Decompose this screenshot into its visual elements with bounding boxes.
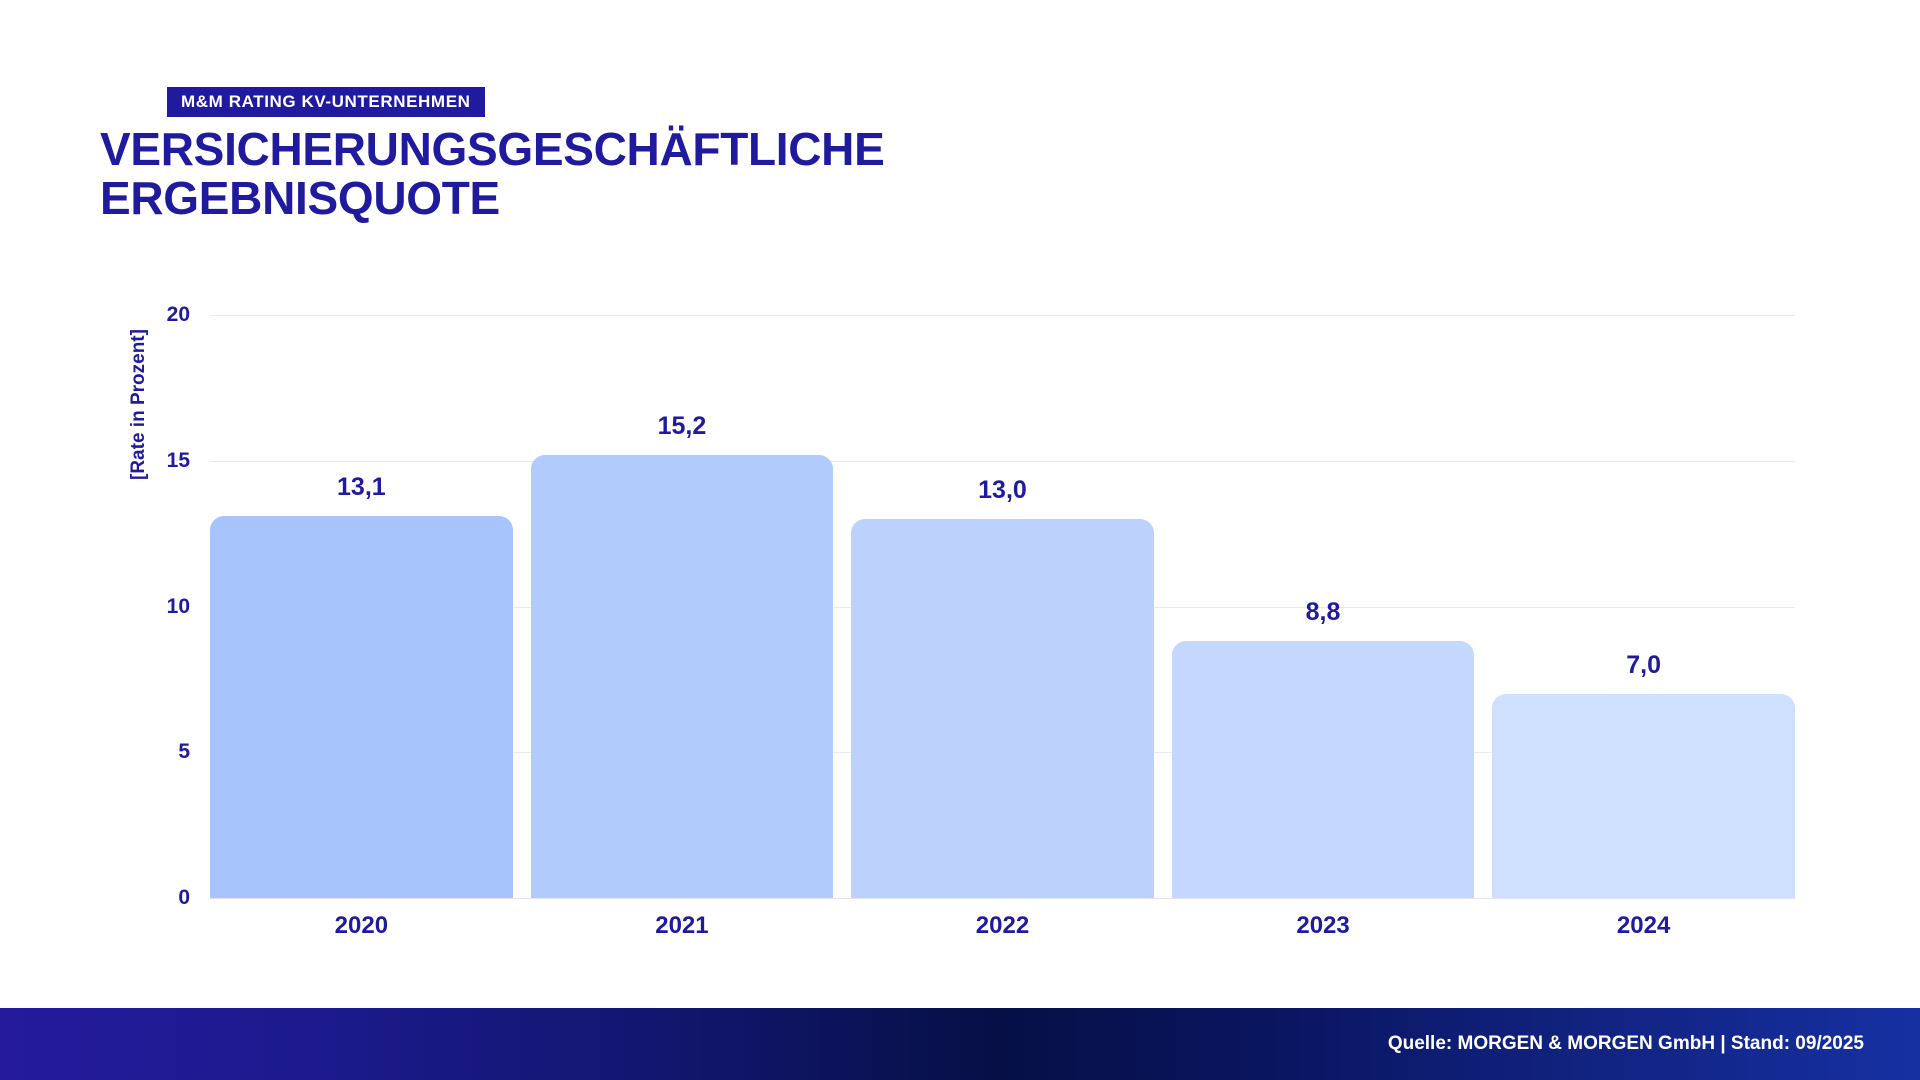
bar-2020[interactable] [210, 516, 513, 898]
page-title-line-2: ERGEBNISQUOTE [100, 174, 1200, 223]
x-axis-tick-label: 2021 [531, 912, 834, 940]
y-axis-tick-label: 15 [120, 449, 190, 473]
chart-page: M&M RATING KV-UNTERNEHMEN VERSICHERUNGSG… [0, 0, 1920, 1080]
bar-value-label: 7,0 [1626, 653, 1661, 678]
plot-area: 05101520 13,115,213,08,87,0 [210, 315, 1795, 898]
bars-group: 13,115,213,08,87,0 [210, 315, 1795, 898]
bar-2023[interactable] [1172, 641, 1475, 898]
bar-slot: 13,0 [851, 315, 1154, 898]
x-axis-labels: 20202021202220232024 [210, 912, 1795, 940]
bar-slot: 15,2 [531, 315, 834, 898]
y-axis-tick-label: 0 [120, 886, 190, 910]
bar-slot: 8,8 [1172, 315, 1475, 898]
source-note: Quelle: MORGEN & MORGEN GmbH | Stand: 09… [1388, 1033, 1920, 1055]
y-axis-tick-label: 10 [120, 595, 190, 619]
rating-badge: M&M RATING KV-UNTERNEHMEN [167, 87, 485, 117]
bar-slot: 13,1 [210, 315, 513, 898]
x-axis-tick-label: 2024 [1492, 912, 1795, 940]
page-title: VERSICHERUNGSGESCHÄFTLICHE ERGEBNISQUOTE [100, 125, 1200, 223]
x-axis-tick-label: 2023 [1172, 912, 1475, 940]
bar-2024[interactable] [1492, 694, 1795, 898]
y-axis-tick-label: 5 [120, 740, 190, 764]
x-axis-tick-label: 2022 [851, 912, 1154, 940]
bar-2021[interactable] [531, 455, 834, 898]
bar-value-label: 15,2 [658, 414, 707, 439]
bar-2022[interactable] [851, 519, 1154, 898]
footer-bar: Quelle: MORGEN & MORGEN GmbH | Stand: 09… [0, 1008, 1920, 1080]
x-axis-tick-label: 2020 [210, 912, 513, 940]
gridline [210, 898, 1795, 899]
bar-slot: 7,0 [1492, 315, 1795, 898]
page-title-line-1: VERSICHERUNGSGESCHÄFTLICHE [100, 123, 885, 175]
y-axis-tick-label: 20 [120, 303, 190, 327]
header: M&M RATING KV-UNTERNEHMEN VERSICHERUNGSG… [0, 0, 1920, 260]
bar-value-label: 8,8 [1306, 600, 1341, 625]
bar-value-label: 13,1 [337, 475, 386, 500]
bar-value-label: 13,0 [978, 478, 1027, 503]
